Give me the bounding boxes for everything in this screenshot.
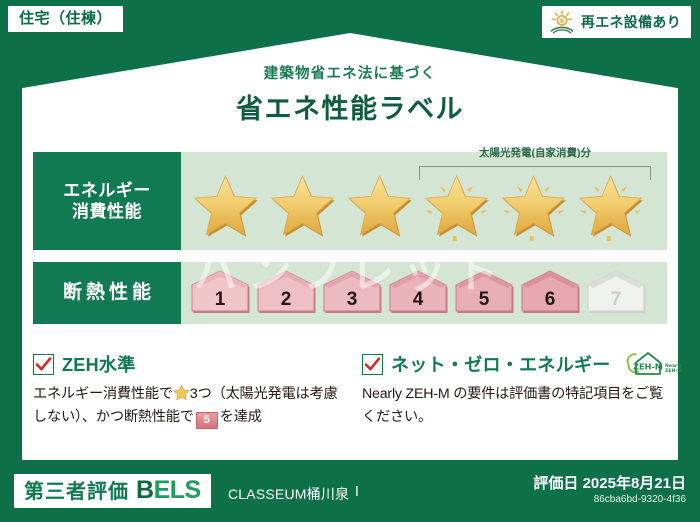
solar-bracket-label: 太陽光発電(自家消費)分 bbox=[417, 145, 653, 160]
energy-star-rating bbox=[181, 170, 667, 244]
energy-performance-label: 住宅（住棟） E 再エネ設備あり 建築物省エネ法に基づく 省エネ性能ラベ bbox=[0, 0, 700, 522]
statement-net-zero-energy: ネット・ゼロ・エネルギー ZEH-M Nearly ZEH-M Nearly Z… bbox=[362, 352, 672, 429]
star-solar bbox=[572, 170, 649, 244]
bels-jp-text: 第三者評価 bbox=[24, 482, 129, 502]
checkbox-checked-icon bbox=[33, 354, 54, 375]
bels-logo-b: B bbox=[136, 476, 154, 504]
renewable-equipment-badge: E 再エネ設備あり bbox=[542, 6, 691, 38]
star-plain bbox=[341, 170, 418, 244]
statement-zeh-body: エネルギー消費性能で3つ（太陽光発電は考慮しない）、かつ断熱性能で5を達成 bbox=[33, 383, 343, 429]
insulation-performance-row: 断熱性能 1 2 3 4 bbox=[33, 262, 667, 324]
insulation-grade-chip: 5 bbox=[196, 412, 218, 429]
evaluation-date: 評価日 2025年8月21日 bbox=[533, 472, 686, 493]
statement-zeh-header: ZEH水準 bbox=[33, 352, 343, 376]
star-solar bbox=[495, 170, 572, 244]
statement-zeh-body-post: を達成 bbox=[220, 409, 262, 425]
statement-zeh-title: ZEH水準 bbox=[62, 351, 136, 377]
insulation-grade-scale: 1 2 3 4 5 bbox=[189, 269, 647, 315]
statement-zeh-body-pre: エネルギー消費性能で bbox=[33, 386, 173, 402]
building-sequence: Ⅰ bbox=[355, 484, 359, 500]
insulation-performance-label-cell: 断熱性能 bbox=[33, 262, 181, 324]
title-subtitle: 建築物省エネ法に基づく bbox=[0, 62, 700, 83]
dwelling-type-text: 住宅（住棟） bbox=[19, 10, 112, 27]
bels-logo-els: ELS bbox=[154, 476, 201, 504]
insulation-grade-active: 6 bbox=[519, 269, 581, 315]
renewable-equipment-text: 再エネ設備あり bbox=[581, 15, 681, 29]
bels-certification-badge: 第三者評価 BELS bbox=[14, 474, 211, 508]
statement-nze-header: ネット・ゼロ・エネルギー ZEH-M Nearly ZEH-M bbox=[362, 352, 672, 376]
insulation-grade-active: 1 bbox=[189, 269, 251, 315]
bels-logo-text: BELS bbox=[136, 478, 201, 503]
energy-rating-area: 太陽光発電(自家消費)分 bbox=[181, 152, 667, 250]
label-title-block: 建築物省エネ法に基づく 省エネ性能ラベル bbox=[0, 62, 700, 126]
svg-text:ZEH-M: ZEH-M bbox=[665, 368, 682, 374]
energy-performance-label-cell: エネルギー 消費性能 bbox=[33, 152, 181, 250]
insulation-grade-active: 4 bbox=[387, 269, 449, 315]
insulation-grade-active: 2 bbox=[255, 269, 317, 315]
sun-icon: E bbox=[549, 10, 575, 34]
svg-text:ZEH-M: ZEH-M bbox=[633, 361, 663, 371]
page-title: 省エネ性能ラベル bbox=[0, 87, 700, 126]
energy-label-line1: エネルギー bbox=[63, 180, 151, 201]
inline-star-icon bbox=[173, 384, 190, 401]
star-plain bbox=[264, 170, 341, 244]
star-solar bbox=[418, 170, 495, 244]
dwelling-type-tag: 住宅（住棟） bbox=[8, 6, 123, 32]
checkbox-checked-icon bbox=[362, 354, 383, 375]
energy-label-line2: 消費性能 bbox=[72, 201, 142, 222]
insulation-label-text: 断熱性能 bbox=[59, 281, 155, 305]
insulation-grade-inactive: 7 bbox=[585, 269, 647, 315]
insulation-grade-active: 5 bbox=[453, 269, 515, 315]
insulation-rating-area: 1 2 3 4 5 bbox=[181, 262, 667, 324]
statement-zeh-level: ZEH水準 エネルギー消費性能で3つ（太陽光発電は考慮しない）、かつ断熱性能で5… bbox=[33, 352, 343, 429]
building-name: CLASSEUM桶川泉 bbox=[228, 484, 349, 504]
svg-text:E: E bbox=[560, 17, 564, 25]
insulation-grade-active: 3 bbox=[321, 269, 383, 315]
label-footer: 第三者評価 BELS CLASSEUM桶川泉 Ⅰ 評価日 2025年8月21日 … bbox=[0, 462, 700, 522]
evaluation-id: 86cba6bd-9320-4f36 bbox=[594, 494, 686, 505]
statement-nze-title: ネット・ゼロ・エネルギー bbox=[391, 351, 611, 377]
statement-nze-body: Nearly ZEH-M の要件は評価書の特記項目をご覧ください。 bbox=[362, 383, 672, 429]
star-plain bbox=[187, 170, 264, 244]
zeh-m-logo-icon: ZEH-M Nearly ZEH-M bbox=[623, 349, 685, 379]
energy-performance-row: エネルギー 消費性能 太陽光発電(自家消費)分 bbox=[33, 152, 667, 250]
